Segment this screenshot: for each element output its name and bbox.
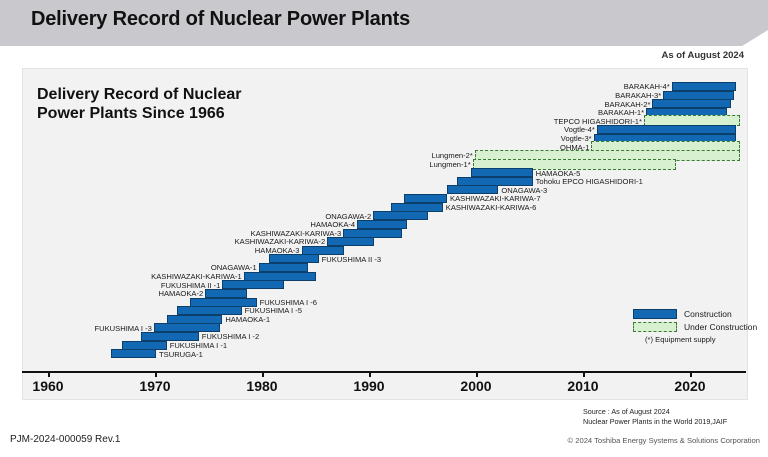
bar-construction [111,349,156,358]
axis-tick-label: 2000 [460,378,491,394]
bar-label: HAMAOKA-3 [23,246,302,255]
axis-tick-label: 1970 [139,378,170,394]
under-construction-swatch-icon [633,322,677,332]
bar-construction [447,185,498,194]
bar-label: FUKUSHIMA I -3 [23,324,154,333]
bar-label: HAMAOKA-2 [23,289,205,298]
as-of-date: As of August 2024 [661,50,744,61]
axis-tick-mark [690,371,692,377]
axis-tick-mark [262,371,264,377]
construction-swatch-icon [633,309,677,319]
axis-tick-label: 1960 [32,378,63,394]
bar-label: FUKUSHIMA II -3 [322,255,382,264]
bar-label: KASHIWAZAKI-KARIWA-6 [446,203,537,212]
legend-label-construction: Construction [684,309,732,319]
bar-label: TSURUGA-1 [159,350,203,359]
axis-tick-mark [476,371,478,377]
axis-tick-label: 1990 [353,378,384,394]
axis-tick-label: 2010 [567,378,598,394]
axis-tick-label: 2020 [674,378,705,394]
axis-tick-label: 1980 [246,378,277,394]
legend-label-under-construction: Under Construction [684,322,757,332]
copyright-notice: © 2024 Toshiba Energy Systems & Solution… [568,436,760,445]
axis-tick-mark [48,371,50,377]
bar-label: HAMAOKA-1 [225,315,270,324]
chart-legend: Construction Under Construction (*) Equi… [633,309,768,344]
page-title: Delivery Record of Nuclear Power Plants [31,8,410,31]
chart-panel: Delivery Record of Nuclear Power Plants … [22,68,748,400]
axis-tick-mark [155,371,157,377]
source-note: Source : As of August 2024 Nuclear Power… [583,407,727,426]
x-axis-line [22,371,746,373]
axis-tick-mark [583,371,585,377]
bar-label: Lungmen-1* [23,160,473,169]
axis-tick-mark [369,371,371,377]
legend-item-under-construction: Under Construction [633,322,768,332]
legend-note-equipment-supply: (*) Equipment supply [645,335,768,344]
gantt-plot-area: BARAKAH-4*BARAKAH-3*BARAKAH-2*BARAKAH-1*… [23,69,747,399]
bar-label: Tohoku EPCO HIGASHIDORI-1 [536,177,643,186]
document-id: PJM-2024-000059 Rev.1 [10,434,120,445]
legend-item-construction: Construction [633,309,768,319]
